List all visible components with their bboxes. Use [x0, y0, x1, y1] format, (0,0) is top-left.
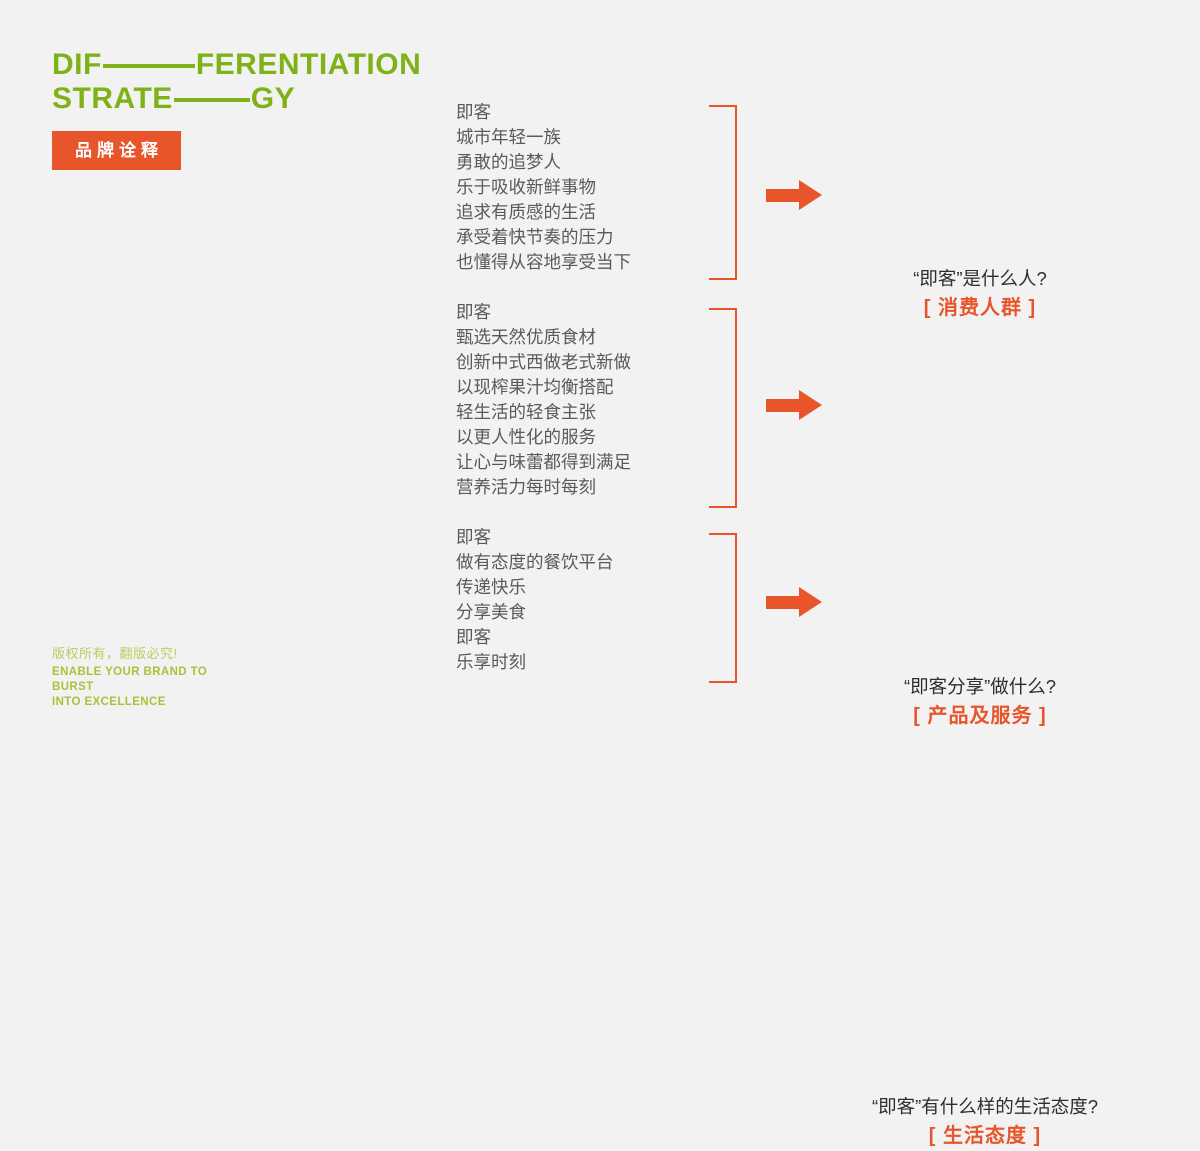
list-item: 创新中式西做老式新做	[456, 350, 676, 375]
title-line-2: STRATE GY	[52, 84, 432, 114]
list-item: 以现榨果汁均衡搭配	[456, 375, 676, 400]
list-item: 乐享时刻	[456, 650, 676, 675]
statement-list: 即客 城市年轻一族 勇敢的追梦人 乐于吸收新鲜事物 追求有质感的生活 承受着快节…	[456, 100, 676, 275]
arrow-head	[799, 180, 822, 210]
answer-block: “即客”是什么人? [ 消费人群 ]	[845, 265, 1115, 323]
list-item: 勇敢的追梦人	[456, 150, 676, 175]
list-item: 做有态度的餐饮平台	[456, 550, 676, 575]
right-arrow-icon	[766, 587, 822, 617]
title-line-1-suffix: FERENTIATION	[196, 50, 421, 80]
list-item: 分享美食	[456, 600, 676, 625]
list-item: 传递快乐	[456, 575, 676, 600]
list-item: 乐于吸收新鲜事物	[456, 175, 676, 200]
answer-tag: [ 生活态度 ]	[820, 1121, 1150, 1151]
title-line-2-prefix: STRATE	[52, 84, 173, 114]
tagline-line-1: ENABLE YOUR BRAND TO BURST	[52, 665, 252, 695]
list-item: 让心与味蕾都得到满足	[456, 450, 676, 475]
answer-question: “即客分享”做什么?	[845, 673, 1115, 701]
list-item: 以更人性化的服务	[456, 425, 676, 450]
answer-question: “即客”有什么样的生活态度?	[820, 1093, 1150, 1121]
list-item: 承受着快节奏的压力	[456, 225, 676, 250]
bracket-icon	[709, 105, 737, 280]
list-item: 即客	[456, 300, 676, 325]
right-arrow-icon	[766, 390, 822, 420]
bracket-icon	[709, 308, 737, 508]
arrow-head	[799, 587, 822, 617]
list-item: 甄选天然优质食材	[456, 325, 676, 350]
list-item: 城市年轻一族	[456, 125, 676, 150]
brand-badge: 品牌诠释	[52, 131, 181, 170]
header-block: DIF FERENTIATION STRATE GY 品牌诠释	[52, 50, 432, 170]
title-rule-icon	[103, 64, 195, 68]
arrow-shaft	[766, 596, 802, 609]
list-item: 营养活力每时每刻	[456, 475, 676, 500]
statement-list: 即客 做有态度的餐饮平台 传递快乐 分享美食 即客 乐享时刻	[456, 525, 676, 675]
list-item: 也懂得从容地享受当下	[456, 250, 676, 275]
answer-block: “即客分享”做什么? [ 产品及服务 ]	[845, 673, 1115, 731]
answer-tag: [ 消费人群 ]	[845, 293, 1115, 323]
bracket-icon	[709, 533, 737, 683]
title-line-1: DIF FERENTIATION	[52, 50, 432, 80]
list-item: 轻生活的轻食主张	[456, 400, 676, 425]
answer-block: “即客”有什么样的生活态度? [ 生活态度 ]	[820, 1093, 1150, 1151]
title-line-1-prefix: DIF	[52, 50, 102, 80]
answer-question: “即客”是什么人?	[845, 265, 1115, 293]
statement-list: 即客 甄选天然优质食材 创新中式西做老式新做 以现榨果汁均衡搭配 轻生活的轻食主…	[456, 300, 676, 500]
arrow-shaft	[766, 399, 802, 412]
right-arrow-icon	[766, 180, 822, 210]
footer-block: 版权所有，翻版必究! ENABLE YOUR BRAND TO BURST IN…	[52, 645, 352, 710]
arrow-head	[799, 390, 822, 420]
copyright-notice: 版权所有，翻版必究!	[52, 645, 352, 662]
tagline-line-2: INTO EXCELLENCE	[52, 695, 252, 710]
list-item: 即客	[456, 525, 676, 550]
list-item: 即客	[456, 100, 676, 125]
arrow-shaft	[766, 189, 802, 202]
title-line-2-suffix: GY	[251, 84, 295, 114]
answer-tag: [ 产品及服务 ]	[845, 701, 1115, 731]
title-rule-icon	[174, 98, 250, 102]
list-item: 即客	[456, 625, 676, 650]
list-item: 追求有质感的生活	[456, 200, 676, 225]
tagline: ENABLE YOUR BRAND TO BURST INTO EXCELLEN…	[52, 665, 252, 710]
